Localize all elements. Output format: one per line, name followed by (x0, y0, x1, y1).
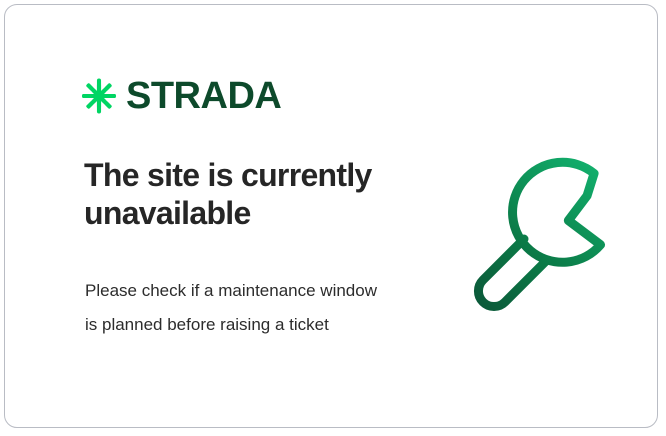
wrench-icon (457, 157, 619, 317)
brand-logo: STRADA (81, 75, 281, 117)
status-page-card: STRADA The site is currently unavailable… (4, 4, 658, 428)
page-description: Please check if a maintenance window is … (85, 274, 385, 342)
brand-wordmark: STRADA (126, 77, 281, 115)
asterisk-star-icon (81, 77, 117, 115)
page-title: The site is currently unavailable (84, 157, 414, 233)
